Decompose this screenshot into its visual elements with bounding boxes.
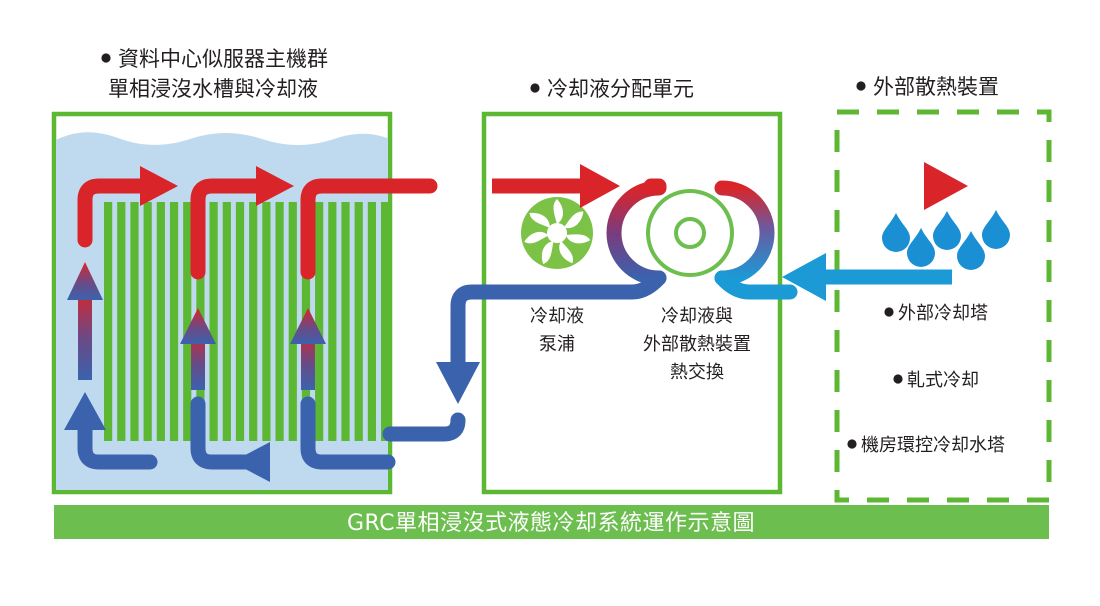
server-fin [223,202,231,441]
list-item: 機房環控冷却水塔 [847,435,1005,456]
tank-header-line1: 資料中心似服器主機群 [118,47,328,71]
pump-label-line1: 冷却液 [530,306,584,327]
hx-label-line3: 熱交換 [670,362,724,383]
cdu-header-label: 冷却液分配單元 [530,77,694,101]
external-header-label-text: 外部散熱裝置 [873,75,999,99]
cool-return-into-tank [390,420,458,434]
server-fin [315,202,323,441]
server-fin [157,202,165,441]
server-fin [262,202,270,441]
server-fin [275,202,283,441]
server-fin [381,202,389,441]
tank-header-label: 資料中心似服器主機群 單相浸沒水槽與冷却液 [101,47,328,101]
bullet-dot-icon [884,307,893,316]
server-fin [341,202,349,441]
bullet-dot-icon [893,374,902,383]
bullet-dot-icon [847,439,856,448]
pump-label-line2: 泵浦 [539,334,575,355]
impeller-hub [547,223,567,243]
list-item: 乹式冷却 [893,370,979,391]
external-header-label: 外部散熱裝置 [856,75,999,99]
cooling-system-diagram: 資料中心似服器主機群 單相浸沒水槽與冷却液 [0,0,1100,606]
server-fin [355,202,363,441]
footer-banner: GRC單相浸沒式液態冷却系統運作示意圖 [54,505,1049,539]
hx-label-line1: 冷却液與 [661,306,733,327]
server-fin [170,202,178,441]
cool-return-arrowhead-down [436,362,480,404]
server-fin [183,202,191,441]
server-fin [289,202,297,441]
footer-caption: GRC單相浸沒式液態冷却系統運作示意圖 [347,511,755,536]
tank-section: 資料中心似服器主機群 單相浸沒水槽與冷却液 [54,47,430,492]
server-fin [117,202,125,441]
list-item: 外部冷却塔 [884,303,988,324]
riser-shaft-1 [78,288,92,380]
impeller-icon [521,197,593,269]
bullet-dot-icon [101,53,110,62]
bullet-dot-icon [530,83,539,92]
diagram-root: 資料中心似服器主機群 單相浸沒水槽與冷却液 [0,0,1100,606]
server-fin [249,202,257,441]
cdu-section: 冷却液分配單元 [390,77,790,492]
external-section: 外部散熱裝置 外部冷却塔 [780,75,1049,500]
server-fin [368,202,376,441]
server-fin [130,202,138,441]
cdu-header-label-text: 冷却液分配單元 [547,77,694,101]
tank-header-line2: 單相浸沒水槽與冷却液 [108,77,318,101]
cdu-enclosure [484,114,780,492]
hx-inner-circle [676,219,704,247]
bullet-dot-icon [856,81,865,90]
hx-label-line2: 外部散熱裝置 [643,334,751,355]
server-fin [210,202,218,441]
server-fin [144,202,152,441]
external-bullet-2: 機房環控冷却水塔 [861,435,1005,456]
server-fin [236,202,244,441]
server-fin [328,202,336,441]
external-bullet-0: 外部冷却塔 [898,303,988,324]
server-fin [104,202,112,441]
external-bullet-1: 乹式冷却 [907,370,979,391]
